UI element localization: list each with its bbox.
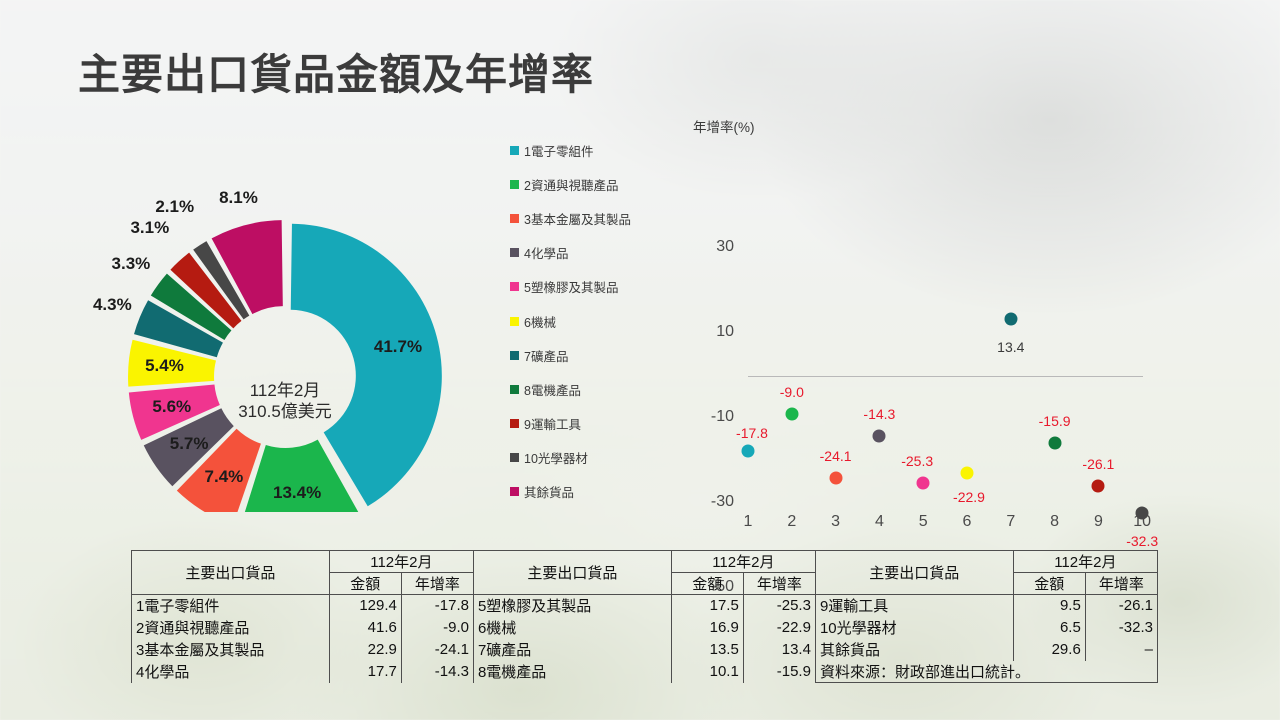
scatter-point[interactable] (1004, 312, 1017, 325)
table-cell-name: 其餘貨品 (815, 639, 1013, 661)
legend-item[interactable]: 6機械 (510, 304, 690, 338)
legend-item[interactable]: 3基本金屬及其製品 (510, 201, 690, 235)
scatter-point[interactable] (917, 477, 930, 490)
table-cell-amount: 9.5 (1013, 595, 1085, 617)
donut-slice-label: 5.4% (145, 356, 184, 376)
table-cell-name: 3基本金屬及其製品 (132, 639, 330, 661)
scatter-point-label: 13.4 (997, 339, 1024, 355)
x-axis-tick-label: 6 (952, 513, 982, 531)
table-cell-growth: -22.9 (743, 617, 815, 639)
legend-swatch-icon (510, 487, 519, 496)
table-row: 3基本金屬及其製品22.9-24.17礦產品13.513.4其餘貨品29.6– (132, 639, 1158, 661)
table-header-growth: 年增率 (1085, 573, 1157, 595)
table-row: 4化學品17.7-14.38電機產品10.1-15.9資料來源：財政部進出口統計… (132, 661, 1158, 683)
legend-item-label: 10光學器材 (524, 448, 588, 467)
donut-slice-label: 4.3% (93, 295, 132, 315)
legend-swatch-icon (510, 282, 519, 291)
legend-item-label: 5塑橡膠及其製品 (524, 277, 618, 296)
table-cell-growth: -17.8 (401, 595, 473, 617)
table-header-amount: 金額 (329, 573, 401, 595)
x-axis-tick-label: 7 (996, 513, 1026, 531)
table-header-period: 112年2月 (671, 551, 815, 573)
legend-swatch-icon (510, 180, 519, 189)
donut-center-text: 112年2月 310.5億美元 (238, 380, 332, 423)
x-axis-tick-label: 1 (733, 513, 763, 531)
scatter-chart: 年增率(%) 3010-10-30-50 12345678910 -17.8-9… (690, 108, 1170, 528)
table-header-amount: 金額 (671, 573, 743, 595)
y-axis-tick-label: -10 (690, 408, 734, 426)
legend-item-label: 6機械 (524, 312, 556, 331)
table-cell-amount: 13.5 (671, 639, 743, 661)
donut-slice-label: 3.1% (130, 218, 169, 238)
scatter-point-label: -9.0 (780, 384, 804, 400)
legend-item-label: 9運輸工具 (524, 414, 581, 433)
chart-legend: 1電子零組件2資通與視聽產品3基本金屬及其製品4化學品5塑橡膠及其製品6機械7礦… (510, 133, 690, 509)
x-axis-tick-label: 5 (908, 513, 938, 531)
legend-swatch-icon (510, 419, 519, 428)
scatter-point-label: -22.9 (953, 489, 985, 505)
donut-center-line1: 112年2月 (238, 380, 332, 401)
legend-item-label: 8電機產品 (524, 380, 581, 399)
table-cell-name: 10光學器材 (815, 617, 1013, 639)
legend-item[interactable]: 9運輸工具 (510, 407, 690, 441)
legend-swatch-icon (510, 146, 519, 155)
zero-gridline (748, 376, 1143, 377)
legend-item[interactable]: 2資通與視聽產品 (510, 167, 690, 201)
donut-slice-label: 5.6% (152, 397, 191, 417)
donut-chart: 112年2月 310.5億美元 41.7%13.4%7.4%5.7%5.6%5.… (60, 112, 510, 512)
table-cell-amount: 6.5 (1013, 617, 1085, 639)
table-row: 2資通與視聽產品41.6-9.06機械16.9-22.910光學器材6.5-32… (132, 617, 1158, 639)
table-header-growth: 年增率 (401, 573, 473, 595)
donut-slice-label: 13.4% (273, 483, 321, 503)
legend-item[interactable]: 1電子零組件 (510, 133, 690, 167)
donut-slice-label: 8.1% (219, 188, 258, 208)
table-cell-name: 2資通與視聽產品 (132, 617, 330, 639)
scatter-point-label: -15.9 (1039, 413, 1071, 429)
table-cell-growth: -25.3 (743, 595, 815, 617)
table-header-period: 112年2月 (329, 551, 473, 573)
table-cell-growth: -9.0 (401, 617, 473, 639)
scatter-point-label: -17.8 (736, 425, 768, 441)
table-cell-growth: -26.1 (1085, 595, 1157, 617)
x-axis-tick-label: 3 (821, 513, 851, 531)
scatter-axis-title: 年增率(%) (693, 116, 755, 136)
legend-swatch-icon (510, 248, 519, 257)
table-cell-growth: -32.3 (1085, 617, 1157, 639)
x-axis-tick-label: 9 (1083, 513, 1113, 531)
y-axis-tick-label: 10 (690, 323, 734, 341)
scatter-point-label: -26.1 (1082, 456, 1114, 472)
legend-item[interactable]: 7礦產品 (510, 338, 690, 372)
donut-slice-label: 7.4% (205, 467, 244, 487)
legend-item[interactable]: 其餘貨品 (510, 475, 690, 509)
legend-item[interactable]: 4化學品 (510, 236, 690, 270)
legend-swatch-icon (510, 317, 519, 326)
table-cell-growth: 13.4 (743, 639, 815, 661)
legend-swatch-icon (510, 385, 519, 394)
y-axis-tick-label: 30 (690, 238, 734, 256)
table-cell-growth: -15.9 (743, 661, 815, 683)
legend-item-label: 7礦產品 (524, 346, 568, 365)
legend-item-label: 其餘貨品 (524, 482, 574, 501)
donut-slice-label: 2.1% (155, 197, 194, 217)
legend-swatch-icon (510, 351, 519, 360)
scatter-point[interactable] (1136, 506, 1149, 519)
table-cell-name: 6機械 (473, 617, 671, 639)
donut-slice-label: 41.7% (374, 337, 422, 357)
table-header-amount: 金額 (1013, 573, 1085, 595)
legend-item-label: 2資通與視聽產品 (524, 175, 618, 194)
table-cell-growth: – (1085, 639, 1157, 661)
table-cell-amount: 16.9 (671, 617, 743, 639)
x-axis-tick-label: 4 (864, 513, 894, 531)
scatter-point[interactable] (829, 471, 842, 484)
legend-item[interactable]: 10光學器材 (510, 441, 690, 475)
scatter-point[interactable] (873, 430, 886, 443)
scatter-point-label: -14.3 (863, 406, 895, 422)
table-source-note: 資料來源：財政部進出口統計。 (815, 661, 1157, 683)
legend-item-label: 1電子零組件 (524, 141, 593, 160)
scatter-point[interactable] (1092, 480, 1105, 493)
donut-slice-label: 3.3% (112, 254, 151, 274)
table-cell-name: 8電機產品 (473, 661, 671, 683)
scatter-point-label: -24.1 (820, 448, 852, 464)
table-cell-amount: 10.1 (671, 661, 743, 683)
table-header-item: 主要出口貨品 (815, 551, 1013, 595)
table-cell-amount: 41.6 (329, 617, 401, 639)
legend-swatch-icon (510, 453, 519, 462)
data-table-container: 主要出口貨品112年2月主要出口貨品112年2月主要出口貨品112年2月金額年增… (131, 550, 1158, 683)
table-row: 1電子零組件129.4-17.85塑橡膠及其製品17.5-25.39運輸工具9.… (132, 595, 1158, 617)
legend-swatch-icon (510, 214, 519, 223)
table-cell-amount: 29.6 (1013, 639, 1085, 661)
table-cell-name: 9運輸工具 (815, 595, 1013, 617)
table-cell-growth: -24.1 (401, 639, 473, 661)
y-axis-tick-label: -30 (690, 493, 734, 511)
donut-slice-label: 5.7% (170, 434, 209, 454)
legend-item-label: 4化學品 (524, 243, 568, 262)
page-title: 主要出口貨品金額及年增率 (78, 41, 594, 102)
table-cell-name: 1電子零組件 (132, 595, 330, 617)
donut-center-line2: 310.5億美元 (238, 401, 332, 422)
table-cell-growth: -14.3 (401, 661, 473, 683)
x-axis-tick-label: 2 (777, 513, 807, 531)
table-header-period: 112年2月 (1013, 551, 1157, 573)
table-cell-amount: 22.9 (329, 639, 401, 661)
table-cell-amount: 17.7 (329, 661, 401, 683)
scatter-point[interactable] (742, 445, 755, 458)
legend-item-label: 3基本金屬及其製品 (524, 209, 631, 228)
table-cell-amount: 129.4 (329, 595, 401, 617)
table-header-item: 主要出口貨品 (473, 551, 671, 595)
scatter-point-label: -32.3 (1126, 533, 1158, 549)
table-cell-name: 4化學品 (132, 661, 330, 683)
data-table: 主要出口貨品112年2月主要出口貨品112年2月主要出口貨品112年2月金額年增… (131, 550, 1158, 683)
slide-canvas: 主要出口貨品金額及年增率 112年2月 310.5億美元 41.7%13.4%7… (0, 0, 1280, 720)
scatter-point-label: -25.3 (901, 453, 933, 469)
table-cell-name: 7礦產品 (473, 639, 671, 661)
table-header-row-primary: 主要出口貨品112年2月主要出口貨品112年2月主要出口貨品112年2月 (132, 551, 1158, 573)
legend-item[interactable]: 5塑橡膠及其製品 (510, 270, 690, 304)
scatter-point[interactable] (1048, 437, 1061, 450)
table-header-growth: 年增率 (743, 573, 815, 595)
scatter-point[interactable] (961, 466, 974, 479)
x-axis-tick-label: 8 (1040, 513, 1070, 531)
scatter-point[interactable] (785, 407, 798, 420)
table-header-item: 主要出口貨品 (132, 551, 330, 595)
table-cell-name: 5塑橡膠及其製品 (473, 595, 671, 617)
table-cell-amount: 17.5 (671, 595, 743, 617)
legend-item[interactable]: 8電機產品 (510, 372, 690, 406)
